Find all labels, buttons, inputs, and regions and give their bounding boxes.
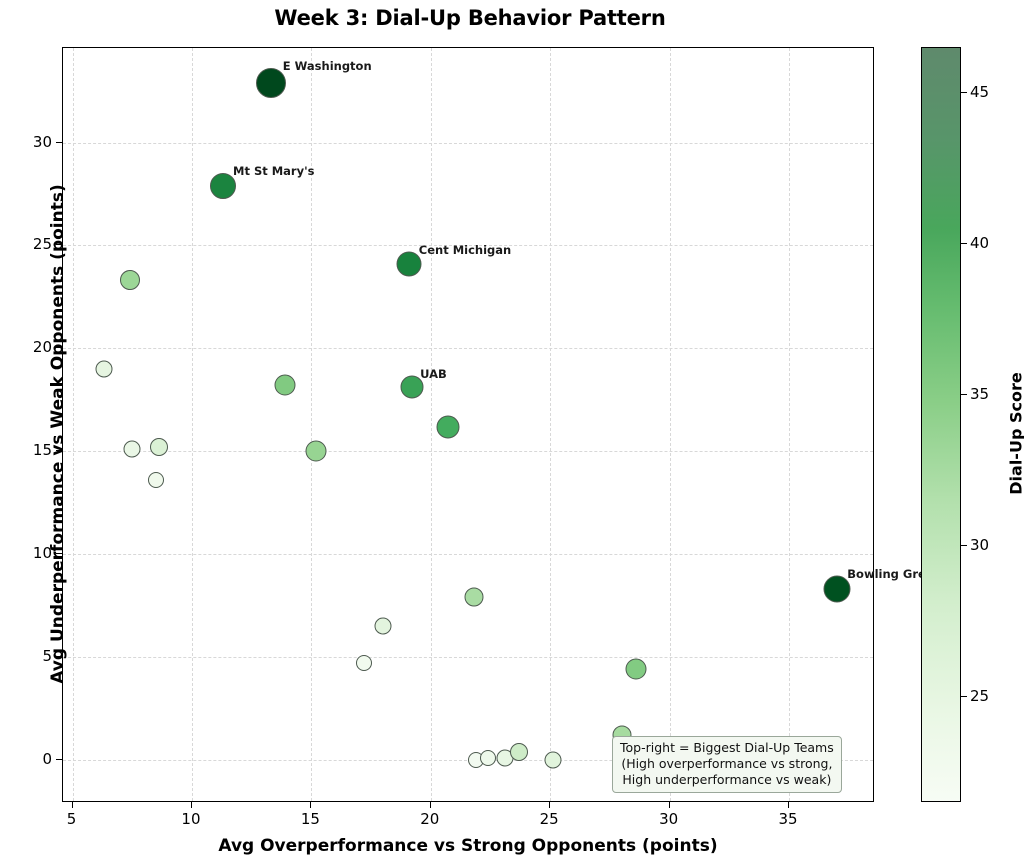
data-point[interactable] xyxy=(124,441,141,458)
plot-area: E WashingtonMt St Mary'sCent MichiganUAB… xyxy=(62,47,874,802)
x-tick-label-35: 35 xyxy=(778,810,797,828)
data-point[interactable] xyxy=(375,618,392,635)
x-tick-mark-15 xyxy=(310,802,311,808)
x-axis-label: Avg Overperformance vs Strong Opponents … xyxy=(62,836,874,856)
data-point[interactable] xyxy=(464,588,483,607)
colorbar-tick-label-35: 35 xyxy=(970,385,989,403)
gridline-x-25 xyxy=(550,48,551,801)
colorbar-tick-mark-25 xyxy=(961,696,967,697)
x-tick-label-30: 30 xyxy=(659,810,678,828)
gridline-y-20 xyxy=(63,348,873,349)
point-label-uab: UAB xyxy=(420,367,447,381)
y-axis-label: Avg Underperformance vs Weak Opponents (… xyxy=(48,54,68,814)
data-point[interactable] xyxy=(275,375,296,396)
data-point[interactable] xyxy=(95,360,112,377)
data-point[interactable] xyxy=(544,751,561,768)
colorbar-tick-mark-45 xyxy=(961,92,967,93)
data-point[interactable] xyxy=(120,270,140,290)
gridline-y-15 xyxy=(63,451,873,452)
colorbar-tick-label-25: 25 xyxy=(970,687,989,705)
x-tick-label-5: 5 xyxy=(67,810,77,828)
point-label-e-washington: E Washington xyxy=(283,59,372,73)
data-point[interactable] xyxy=(510,743,528,761)
colorbar-tick-label-40: 40 xyxy=(970,234,989,252)
y-tick-label-0: 0 xyxy=(12,750,52,768)
x-tick-mark-10 xyxy=(191,802,192,808)
point-label-mt-st-mary-s: Mt St Mary's xyxy=(233,164,314,178)
gridline-y-10 xyxy=(63,554,873,555)
data-point[interactable] xyxy=(626,659,647,680)
colorbar-label: Dial-Up Score xyxy=(1007,174,1024,694)
x-tick-mark-30 xyxy=(669,802,670,808)
y-tick-label-25: 25 xyxy=(12,235,52,253)
gridline-x-30 xyxy=(670,48,671,801)
data-point[interactable] xyxy=(356,655,372,671)
data-point-e-washington[interactable] xyxy=(256,68,286,98)
data-point[interactable] xyxy=(306,441,327,462)
x-tick-mark-20 xyxy=(430,802,431,808)
x-tick-label-15: 15 xyxy=(301,810,320,828)
data-point[interactable] xyxy=(148,472,164,488)
plot-clip xyxy=(63,48,873,801)
data-point-bowling-green[interactable] xyxy=(823,576,850,603)
gridline-x-35 xyxy=(789,48,790,801)
gridline-x-20 xyxy=(431,48,432,801)
gridline-y-5 xyxy=(63,657,873,658)
x-tick-mark-25 xyxy=(549,802,550,808)
y-tick-label-15: 15 xyxy=(12,441,52,459)
page-title: Week 3: Dial-Up Behavior Pattern xyxy=(0,6,940,30)
x-tick-mark-5 xyxy=(72,802,73,808)
y-tick-label-10: 10 xyxy=(12,544,52,562)
colorbar-tick-mark-35 xyxy=(961,394,967,395)
data-point[interactable] xyxy=(436,415,459,438)
y-tick-label-5: 5 xyxy=(12,647,52,665)
x-tick-label-20: 20 xyxy=(420,810,439,828)
gridline-x-15 xyxy=(311,48,312,801)
colorbar-tick-label-45: 45 xyxy=(970,83,989,101)
data-point[interactable] xyxy=(480,750,496,766)
annotation-callout: Top-right = Biggest Dial-Up Teams (High … xyxy=(612,736,842,793)
x-tick-mark-35 xyxy=(788,802,789,808)
scatter-chart-figure: Week 3: Dial-Up Behavior Pattern E Washi… xyxy=(0,0,1024,864)
gridline-x-10 xyxy=(192,48,193,801)
y-tick-label-30: 30 xyxy=(12,133,52,151)
y-tick-label-20: 20 xyxy=(12,338,52,356)
colorbar-tick-label-30: 30 xyxy=(970,536,989,554)
data-point[interactable] xyxy=(150,438,168,456)
x-tick-label-10: 10 xyxy=(181,810,200,828)
gridline-x-5 xyxy=(73,48,74,801)
gridline-y-30 xyxy=(63,143,873,144)
point-label-cent-michigan: Cent Michigan xyxy=(419,243,511,257)
x-tick-label-25: 25 xyxy=(540,810,559,828)
colorbar-tick-mark-40 xyxy=(961,243,967,244)
colorbar-gradient xyxy=(921,47,961,802)
colorbar-tick-mark-30 xyxy=(961,545,967,546)
